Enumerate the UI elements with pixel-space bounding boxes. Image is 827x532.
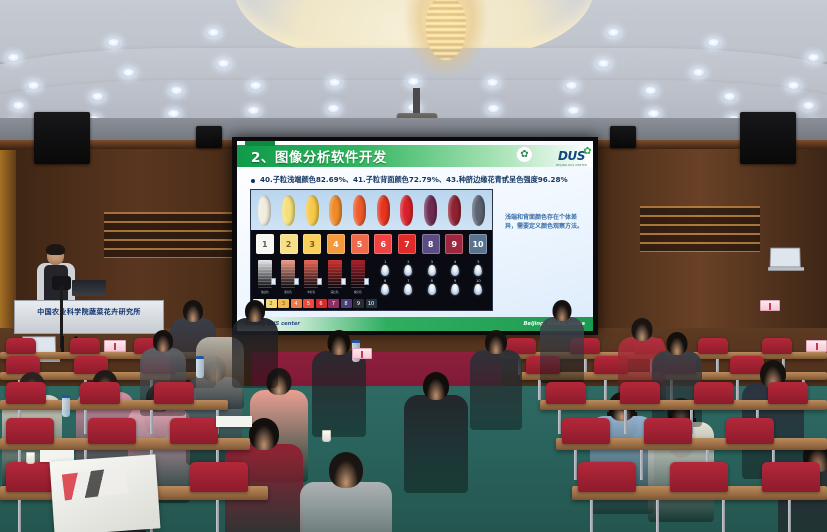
chair — [170, 418, 218, 444]
corn-cob-sample — [377, 195, 390, 226]
seed-grid-cell: 10 — [467, 280, 490, 295]
wall-speaker-left — [34, 112, 90, 164]
strip-marker — [341, 278, 346, 285]
chair — [768, 382, 808, 404]
water-bottle — [196, 356, 204, 378]
seed-grid-cell: 4 — [443, 261, 466, 276]
seed-number: 2 — [397, 261, 420, 265]
seed-image — [428, 284, 436, 295]
seed-number: 9 — [443, 280, 466, 284]
desk-leg — [216, 500, 219, 532]
attendee-dark-center — [232, 300, 278, 392]
wall-slats-right — [640, 206, 760, 252]
seed-image — [474, 265, 482, 276]
corn-cob-sample — [282, 195, 295, 226]
corn-cob-sample — [329, 195, 342, 226]
recessed-downlight-icon — [249, 82, 262, 90]
slide-bullet-row: 40.子粒浅端颜色82.69%、41.子粒背面颜色72.79%、43.种脐边缘花… — [251, 175, 585, 184]
color-swatch: 10 — [469, 234, 487, 254]
desk-leg — [736, 380, 739, 400]
bullet-dot-icon — [251, 179, 255, 183]
recessed-downlight-icon — [122, 69, 135, 77]
color-reference-strip — [258, 260, 272, 288]
name-card — [104, 340, 126, 352]
chair — [546, 382, 586, 404]
seed-image — [404, 265, 412, 276]
recessed-downlight-icon — [692, 69, 705, 77]
chair — [698, 338, 728, 354]
slide-bullet-text: 40.子粒浅端颜色82.69%、41.子粒背面颜色72.79%、43.种脐边缘花… — [260, 175, 568, 184]
attendee-back-right — [540, 300, 584, 387]
color-reference-strip — [351, 260, 365, 288]
color-swatch-row: 12345678910 — [251, 231, 492, 257]
desk-leg — [624, 410, 627, 434]
recessed-downlight-icon — [12, 102, 25, 110]
corn-cob-sample — [472, 195, 485, 226]
color-swatch: 4 — [327, 234, 345, 254]
color-reference-strip — [304, 260, 318, 288]
person-head — [329, 452, 363, 488]
seed-image-grid: 12345678910 — [372, 258, 493, 298]
slide-title: 2、图像分析软件开发 — [251, 146, 387, 166]
recessed-downlight-icon — [407, 78, 420, 86]
seed-grid-cell: 1 — [374, 261, 397, 276]
color-chip: 5 — [303, 299, 314, 308]
recessed-downlight-icon — [807, 54, 820, 62]
podium-banner-text: 中国农业科学院蔬菜花卉研究所 — [15, 307, 163, 317]
wall-speaker-small-right — [610, 126, 636, 148]
seed-grid-cell: 5 — [467, 261, 490, 276]
dus-logo-subtext: BEIJING DUS CENTER — [556, 164, 587, 167]
presenter-laptop — [72, 280, 106, 296]
color-chip: 7 — [328, 299, 339, 308]
dus-logo: DUS ✿ BEIJING DUS CENTER — [556, 145, 587, 167]
attendee-laptop-right — [770, 247, 804, 272]
name-card — [352, 348, 372, 359]
chair — [694, 382, 734, 404]
seed-grid-cell: 9 — [443, 280, 466, 295]
recessed-downlight-icon — [207, 29, 220, 37]
seed-grid-cell: 2 — [397, 261, 420, 276]
person-head — [249, 418, 279, 450]
color-chip: 3 — [278, 299, 289, 308]
recessed-downlight-icon — [328, 79, 341, 87]
color-swatch: 3 — [303, 234, 321, 254]
laptop-screen — [770, 248, 801, 268]
person-head — [328, 330, 351, 355]
color-swatch: 9 — [445, 234, 463, 254]
person-head — [632, 318, 653, 341]
desk-leg — [590, 500, 593, 532]
leaf-icon: ✿ — [583, 146, 592, 155]
seed-number: 1 — [374, 261, 397, 265]
chair — [70, 338, 100, 354]
strip-marker — [294, 278, 299, 285]
name-card — [806, 340, 827, 352]
attendee-grey-front — [300, 452, 392, 532]
color-strip-group: 浅白色浅红色中红色深红色紫红色 — [251, 258, 372, 298]
strip-marker — [271, 278, 276, 285]
dus-logo-text: DUS — [558, 149, 585, 163]
recessed-downlight-icon — [247, 107, 260, 115]
tote-bag — [50, 454, 161, 532]
wall-slats-left — [104, 212, 232, 258]
presenter-hair — [46, 244, 65, 255]
recessed-downlight-icon — [565, 82, 578, 90]
chair — [6, 338, 36, 354]
corn-cob-sample — [400, 195, 413, 226]
slide-figure: 12345678910 浅白色浅红色中红色深红色紫红色 12345678910 … — [250, 189, 493, 311]
person-torso — [312, 351, 366, 437]
person-torso — [300, 482, 392, 532]
crystal-chandelier-icon — [404, 0, 488, 76]
color-strip-item: 浅白色 — [258, 260, 272, 288]
recessed-downlight-icon — [7, 54, 20, 62]
person-torso — [404, 395, 468, 493]
recessed-downlight-icon — [787, 82, 800, 90]
color-chip: 8 — [341, 299, 352, 308]
chair — [762, 462, 820, 492]
strip-label: 紫红色 — [351, 290, 365, 294]
color-chip: 10 — [366, 299, 377, 308]
color-reference-strip — [281, 260, 295, 288]
person-head — [210, 318, 231, 341]
name-card — [760, 300, 780, 311]
seed-grid-cell: 8 — [420, 280, 443, 295]
corn-cob-sample — [448, 195, 461, 226]
strip-label: 浅白色 — [258, 290, 272, 294]
seed-number: 3 — [420, 261, 443, 265]
handout-paper — [216, 416, 252, 427]
color-strip-item: 紫红色 — [351, 260, 365, 288]
seed-image — [451, 284, 459, 295]
color-swatch: 7 — [398, 234, 416, 254]
recessed-downlight-icon — [487, 105, 500, 113]
chair — [190, 462, 248, 492]
slide-side-note: 浅端和背面颜色存在个体差异，需要定义颜色观察方法。 — [505, 213, 583, 231]
chair — [762, 338, 792, 354]
seed-number: 4 — [443, 261, 466, 265]
chair — [88, 418, 136, 444]
chair — [562, 418, 610, 444]
recessed-downlight-icon — [217, 60, 230, 68]
strip-label: 中红色 — [304, 290, 318, 294]
corn-cob-sample — [424, 195, 437, 226]
seed-number: 10 — [467, 280, 490, 284]
color-swatch: 5 — [351, 234, 369, 254]
paper-cup — [322, 430, 331, 442]
seed-number: 7 — [397, 280, 420, 284]
color-swatch: 2 — [280, 234, 298, 254]
seed-image — [404, 284, 412, 295]
seed-image — [451, 265, 459, 276]
color-swatch: 8 — [422, 234, 440, 254]
seed-image — [428, 265, 436, 276]
color-strip-item: 浅红色 — [281, 260, 295, 288]
chair — [154, 382, 194, 404]
strip-label: 深红色 — [328, 290, 342, 294]
color-chip: 4 — [291, 299, 302, 308]
desk-leg — [18, 500, 21, 532]
person-head — [485, 330, 507, 354]
chair — [80, 382, 120, 404]
recessed-downlight-icon — [802, 102, 815, 110]
strip-marker — [364, 278, 369, 285]
seed-image — [381, 284, 389, 295]
color-strip-item: 中红色 — [304, 260, 318, 288]
desk-leg — [788, 500, 791, 532]
recessed-downlight-icon — [170, 87, 183, 95]
podium: 中国农业科学院蔬菜花卉研究所 — [14, 300, 164, 334]
desk-leg — [84, 410, 87, 434]
person-head — [245, 300, 265, 322]
person-head — [553, 300, 572, 321]
color-strip-item: 深红色 — [328, 260, 342, 288]
water-bottle — [62, 395, 70, 417]
recessed-downlight-icon — [567, 107, 580, 115]
seed-grid-cell: 3 — [420, 261, 443, 276]
desk-leg — [722, 500, 725, 532]
recessed-downlight-icon — [486, 79, 499, 87]
wall-speaker-small-left — [196, 126, 222, 148]
projector-mount-rod — [413, 88, 420, 116]
chair — [726, 418, 774, 444]
person-head — [423, 372, 449, 400]
person-torso — [232, 318, 278, 388]
corn-cob-sample — [258, 195, 271, 226]
seed-image — [474, 284, 482, 295]
recessed-downlight-icon — [607, 29, 620, 37]
leaf-emblem-icon: ✿ — [516, 146, 533, 163]
recessed-downlight-icon — [597, 60, 610, 68]
desk-leg — [150, 410, 153, 434]
person-head — [153, 330, 173, 352]
chair — [578, 462, 636, 492]
seed-grid-cell: 7 — [397, 280, 420, 295]
recessed-downlight-icon — [644, 87, 657, 95]
conference-hall-photo: 2、图像分析软件开发 ✿ DUS ✿ BEIJING DUS CENTER 40… — [0, 0, 827, 532]
desk-leg — [656, 500, 659, 532]
seed-number: 5 — [467, 261, 490, 265]
chair — [644, 418, 692, 444]
figure-lower: 浅白色浅红色中红色深红色紫红色 12345678910 — [251, 258, 492, 298]
attendee-mid-left-dark — [404, 372, 468, 498]
attendee-mask-man — [652, 332, 702, 431]
corn-cob-sample — [306, 195, 319, 226]
wall-speaker-right — [740, 112, 796, 164]
seed-number: 6 — [374, 280, 397, 284]
corn-cob-row — [251, 190, 492, 230]
desk-leg — [574, 450, 577, 480]
tote-bag-print — [62, 467, 129, 501]
desk-leg — [558, 410, 561, 434]
chair — [6, 418, 54, 444]
color-swatch: 1 — [256, 234, 274, 254]
seed-number: 8 — [420, 280, 443, 284]
person-torso — [540, 317, 584, 383]
color-chip: 6 — [316, 299, 327, 308]
color-swatch: 6 — [374, 234, 392, 254]
attendee-mid-right — [470, 330, 522, 434]
seed-image — [381, 265, 389, 276]
recessed-downlight-icon — [327, 105, 340, 113]
strip-label: 浅红色 — [281, 290, 295, 294]
corn-cob-sample — [353, 195, 366, 226]
chandelier-core — [426, 0, 466, 60]
person-torso — [470, 350, 522, 430]
chair — [620, 382, 660, 404]
desk-leg — [640, 450, 643, 480]
person-head — [667, 332, 688, 355]
chair — [670, 462, 728, 492]
color-reference-strip — [328, 260, 342, 288]
paper-cup — [26, 452, 35, 464]
chair — [6, 382, 46, 404]
strip-marker — [317, 278, 322, 285]
color-chip: 9 — [353, 299, 364, 308]
seed-grid-cell: 6 — [374, 280, 397, 295]
laptop-base — [768, 267, 804, 271]
recessed-downlight-icon — [27, 82, 40, 90]
